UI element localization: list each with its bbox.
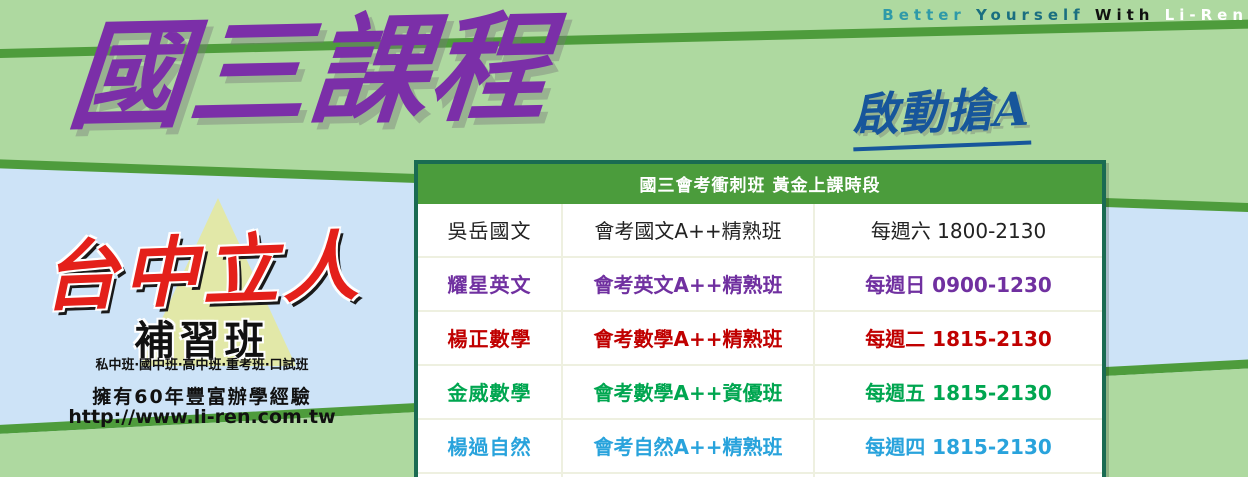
- cell-teacher: 金威數學: [418, 365, 562, 419]
- cell-course: 會考社會A++精熟班: [562, 473, 814, 477]
- logo: 台中立人 補習班 私中班‧國中班‧高中班‧重考班‧口試班 擁有60年豐富辦學經驗…: [22, 196, 382, 421]
- tagline-word-yourself: Yourself: [976, 6, 1095, 24]
- tagline-word-better: Better: [882, 6, 976, 24]
- schedule-header-row: 國三會考衝刺班 黃金上課時段: [418, 164, 1102, 204]
- tagline-word-with: With: [1095, 6, 1165, 24]
- schedule-body: 吳岳國文 會考國文A++精熟班 每週六 1800-2130 耀星英文 會考英文A…: [418, 204, 1102, 477]
- cell-time: 每週四 1815-2130: [814, 419, 1102, 473]
- cell-time: 每週日 1330-1700: [814, 473, 1102, 477]
- cell-course: 會考數學A++資優班: [562, 365, 814, 419]
- cell-teacher: 林大雄社會: [418, 473, 562, 477]
- cell-time: 每週五 1815-2130: [814, 365, 1102, 419]
- logo-experience: 擁有60年豐富辦學經驗: [22, 382, 382, 409]
- schedule-table: 國三會考衝刺班 黃金上課時段 吳岳國文 會考國文A++精熟班 每週六 1800-…: [418, 164, 1102, 477]
- cell-time: 每週日 0900-1230: [814, 257, 1102, 311]
- page-subtitle: 啟動搶A: [851, 73, 1031, 152]
- table-row[interactable]: 楊過自然 會考自然A++精熟班 每週四 1815-2130: [418, 419, 1102, 473]
- logo-website-url: http://www.li-ren.com.tw: [22, 406, 382, 428]
- table-row[interactable]: 林大雄社會 會考社會A++精熟班 每週日 1330-1700: [418, 473, 1102, 477]
- cell-teacher: 楊正數學: [418, 311, 562, 365]
- tagline-word-liren: Li-Ren: [1165, 6, 1248, 24]
- cell-time: 每週二 1815-2130: [814, 311, 1102, 365]
- logo-class-list: 私中班‧國中班‧高中班‧重考班‧口試班: [22, 354, 382, 373]
- cell-course: 會考數學A++精熟班: [562, 311, 814, 365]
- cell-course: 會考國文A++精熟班: [562, 204, 814, 257]
- table-row[interactable]: 耀星英文 會考英文A++精熟班 每週日 0900-1230: [418, 257, 1102, 311]
- page-title: 國三課程: [64, 3, 556, 140]
- schedule-table-container: 國三會考衝刺班 黃金上課時段 吳岳國文 會考國文A++精熟班 每週六 1800-…: [414, 160, 1106, 477]
- table-row[interactable]: 金威數學 會考數學A++資優班 每週五 1815-2130: [418, 365, 1102, 419]
- table-row[interactable]: 楊正數學 會考數學A++精熟班 每週二 1815-2130: [418, 311, 1102, 365]
- cell-time: 每週六 1800-2130: [814, 204, 1102, 257]
- cell-course: 會考英文A++精熟班: [562, 257, 814, 311]
- cell-teacher: 耀星英文: [418, 257, 562, 311]
- cell-teacher: 楊過自然: [418, 419, 562, 473]
- poster-root: Better Yourself With Li-Ren 國三課程 啟動搶A 台中…: [0, 0, 1248, 477]
- tagline: Better Yourself With Li-Ren: [620, 0, 1248, 30]
- cell-teacher: 吳岳國文: [418, 204, 562, 257]
- schedule-header-title: 國三會考衝刺班 黃金上課時段: [418, 164, 1102, 204]
- cell-course: 會考自然A++精熟班: [562, 419, 814, 473]
- table-row[interactable]: 吳岳國文 會考國文A++精熟班 每週六 1800-2130: [418, 204, 1102, 257]
